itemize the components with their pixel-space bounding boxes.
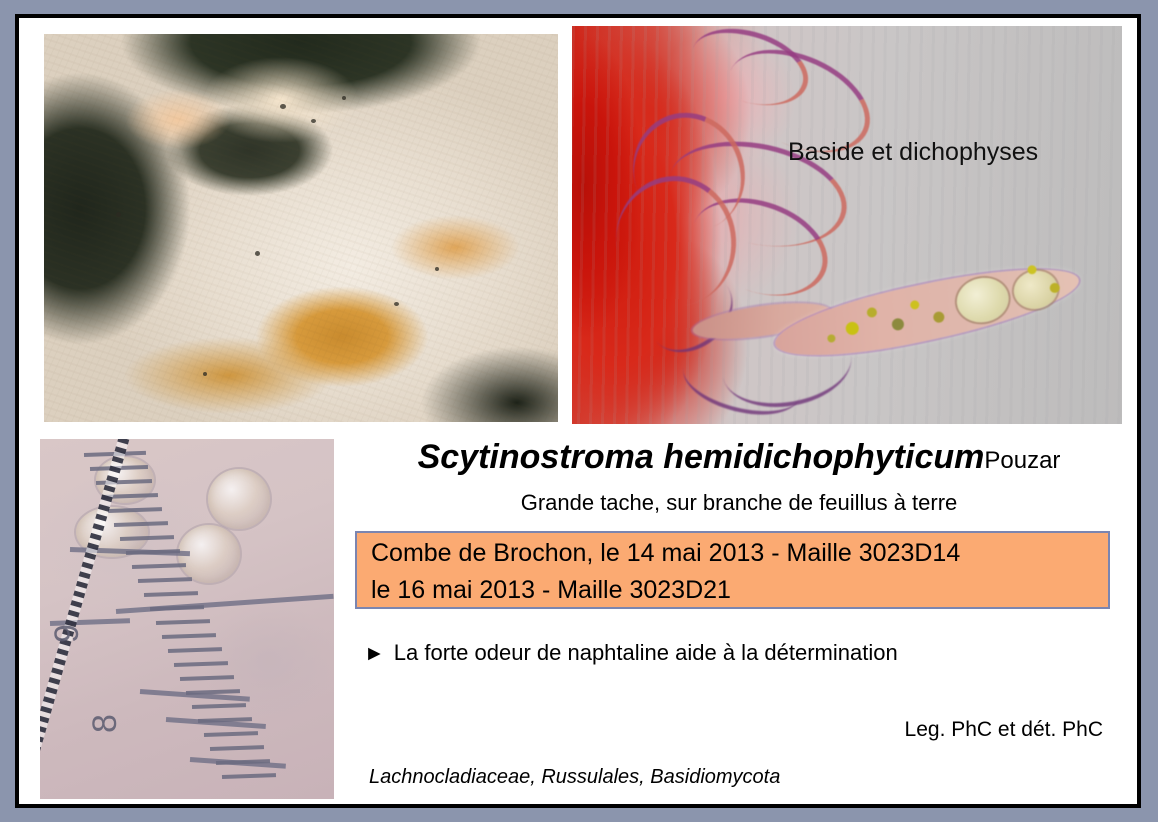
species-binomial: Scytinostroma hemidichophyticum (418, 438, 985, 476)
spore (208, 469, 270, 529)
taxonomy-line: Lachnocladiaceae, Russulales, Basidiomyc… (369, 766, 780, 789)
odour-note-text: La forte odeur de naphtaline aide à la d… (394, 640, 898, 665)
page-title: Scytinostroma hemidichophyticumPouzar (359, 438, 1119, 477)
slide-canvas: Baside et dichophyses (19, 18, 1137, 804)
micrometer-tick (138, 577, 192, 583)
locality-box: Combe de Brochon, le 14 mai 2013 - Maill… (355, 531, 1110, 609)
micrometer-tick (180, 675, 234, 681)
micrometer-tick (174, 661, 228, 667)
basidium-microscopy-photo: Baside et dichophyses (572, 26, 1122, 424)
micrometer-tick (162, 633, 216, 639)
photo-texture-overlay (44, 34, 558, 422)
triangle-bullet-icon: ► (364, 642, 385, 665)
micrometer-tick (222, 773, 276, 779)
scale-number-9: 9 (48, 624, 87, 643)
oil-droplet (827, 334, 836, 343)
basidium-vacuole (953, 273, 1013, 327)
oil-droplet (909, 300, 920, 311)
micrometer-tick (132, 563, 186, 569)
locality-line-1: Combe de Brochon, le 14 mai 2013 - Maill… (357, 533, 1108, 572)
photo-speck (394, 302, 399, 306)
micrometer-tick (168, 647, 222, 653)
micrometer-tick (210, 745, 264, 751)
oil-droplet (932, 311, 945, 324)
species-author: Pouzar (984, 447, 1060, 474)
slide-frame: Baside et dichophyses (15, 14, 1141, 808)
photo-speck (203, 372, 207, 376)
odour-note: ►La forte odeur de naphtaline aide à la … (364, 640, 898, 666)
oil-droplet (866, 307, 878, 319)
micrometer-tick (144, 591, 198, 597)
locality-line-2: le 16 mai 2013 - Maille 3023D21 (357, 572, 1108, 609)
oil-droplet (891, 317, 905, 331)
spores-micrometer-photo: 9 8 (40, 439, 334, 799)
micrometer-tick (120, 535, 174, 541)
micrometer-tick (156, 619, 210, 625)
collector-credit: Leg. PhC et dét. PhC (19, 718, 1119, 742)
oil-droplet (845, 321, 860, 336)
basidium-label: Baside et dichophyses (788, 138, 1038, 167)
habitat-description: Grande tache, sur branche de feuillus à … (359, 490, 1119, 516)
photo-speck (435, 267, 439, 271)
micrometer-tick (192, 703, 246, 709)
micrometer-tick (150, 605, 204, 611)
crust-fungus-on-bark-photo (44, 34, 558, 422)
